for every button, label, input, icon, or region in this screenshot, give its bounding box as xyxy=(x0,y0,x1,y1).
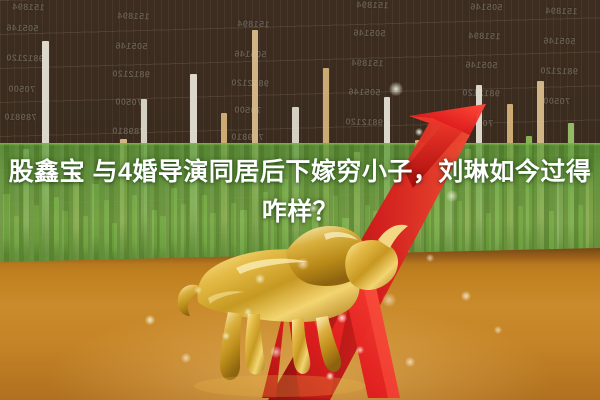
bokeh-sparkle xyxy=(181,353,191,363)
bokeh-sparkle xyxy=(222,332,230,340)
bokeh-sparkle xyxy=(194,286,202,294)
page-title: 股鑫宝 与4婚导演同居后下嫁穷小子，刘琳如今过得咋样？ xyxy=(0,152,600,232)
bokeh-sparkle xyxy=(405,357,415,367)
stock-news-thumbnail: 1518945051469812120705007898101518945051… xyxy=(0,0,600,400)
bokeh-sparkle xyxy=(461,291,471,301)
bokeh-sparkle xyxy=(356,346,364,354)
bokeh-sparkle xyxy=(382,293,396,307)
bokeh-sparkle xyxy=(389,82,403,96)
bokeh-sparkle xyxy=(297,258,309,270)
bokeh-sparkle xyxy=(326,372,334,380)
bokeh-sparkle xyxy=(145,315,155,325)
bokeh-sparkle xyxy=(415,128,423,136)
bokeh-sparkle xyxy=(494,326,502,334)
bokeh-sparkle xyxy=(244,308,252,316)
bokeh-sparkle xyxy=(337,313,347,323)
bokeh-sparkle xyxy=(426,254,434,262)
bokeh-sparkle xyxy=(255,274,265,284)
bokeh-sparkle xyxy=(270,346,282,358)
